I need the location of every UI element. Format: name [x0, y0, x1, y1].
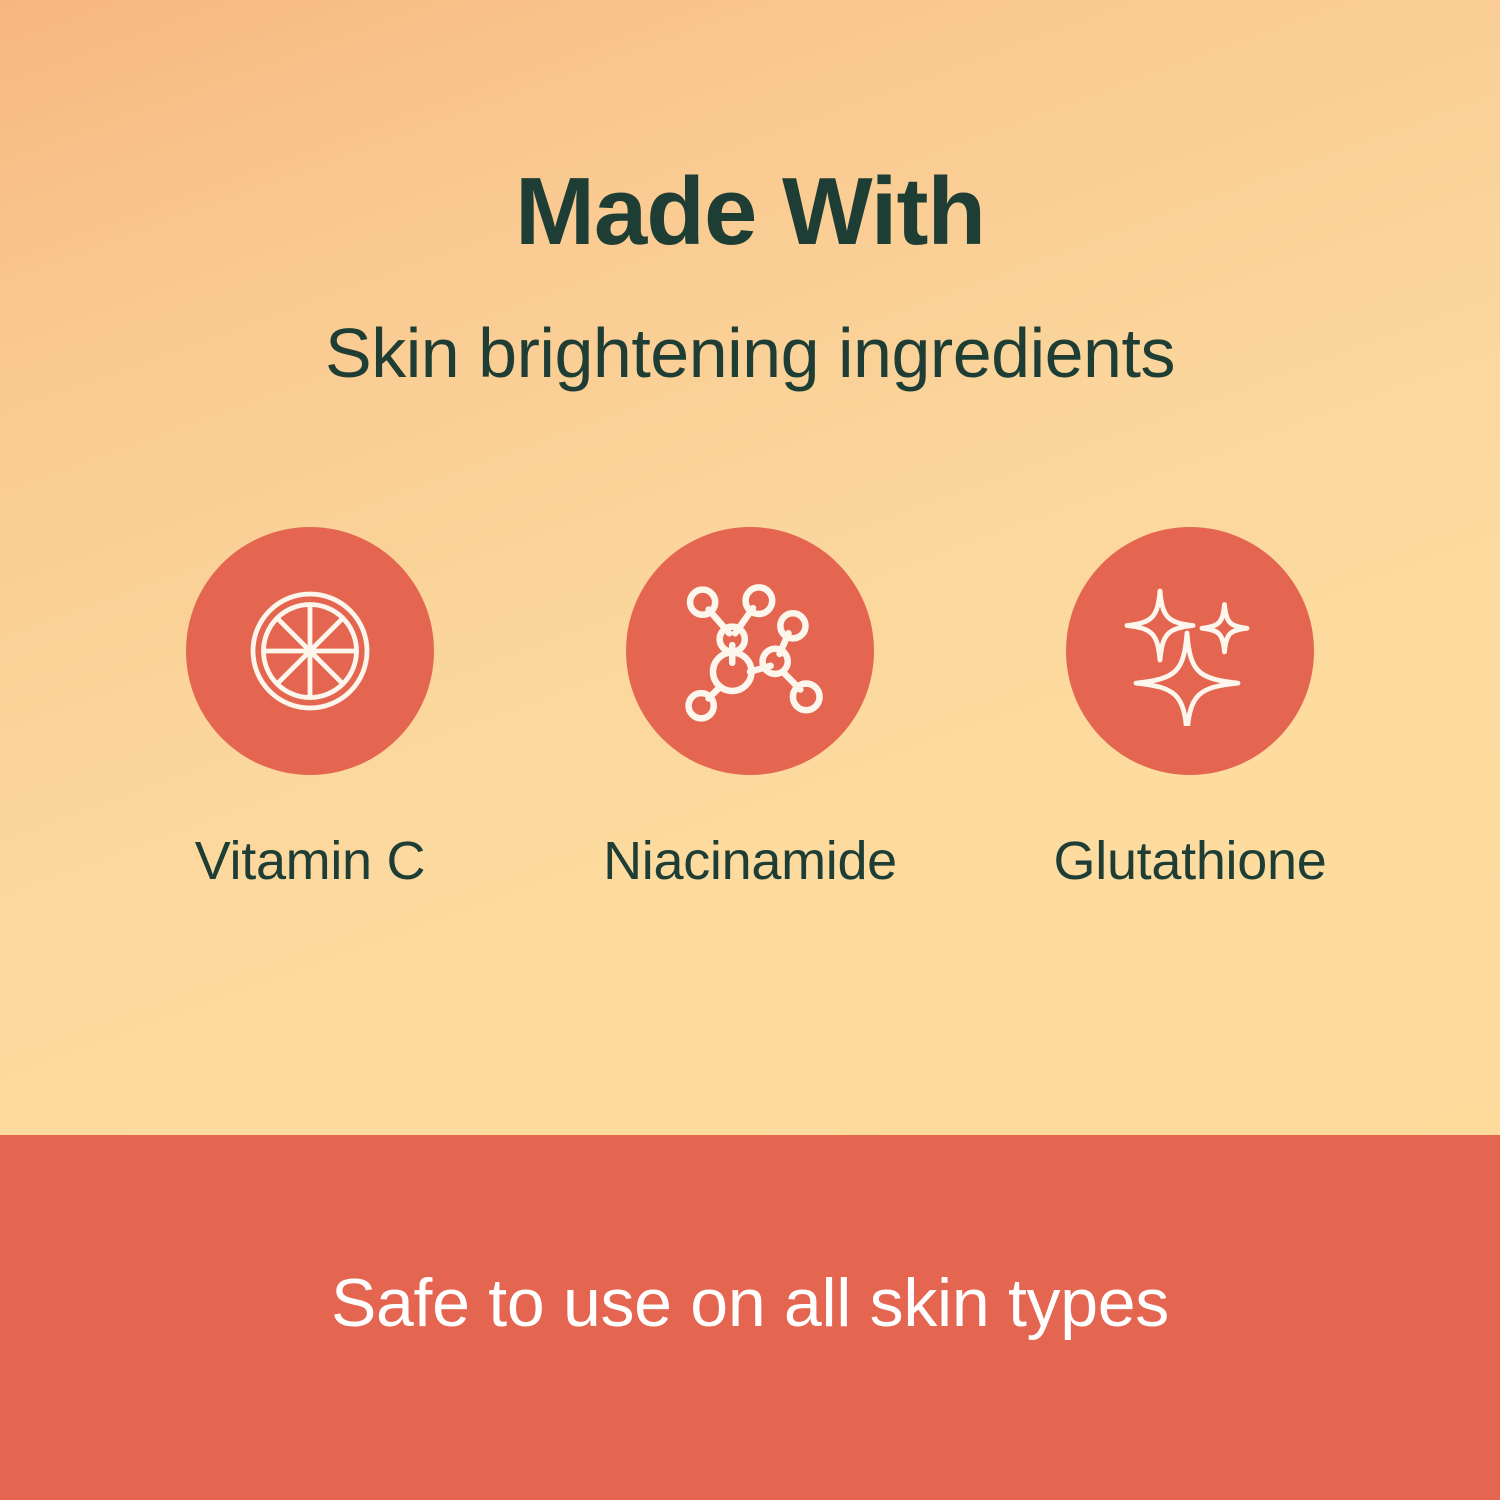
citrus-slice-icon	[235, 576, 385, 726]
ingredient-list: Vitamin C	[0, 527, 1500, 892]
ingredient-label: Vitamin C	[195, 830, 425, 892]
sparkles-icon	[1115, 576, 1265, 726]
banner-text: Safe to use on all skin types	[0, 1262, 1500, 1344]
ingredient-badge-glutathione	[1066, 527, 1314, 775]
ingredient-badge-niacinamide	[626, 527, 874, 775]
ingredient-item-niacinamide: Niacinamide	[530, 527, 970, 892]
ingredients-section: Made With Skin brightening ingredients	[0, 0, 1500, 1135]
ingredient-label: Niacinamide	[603, 830, 897, 892]
molecule-icon	[676, 577, 824, 725]
bottom-banner: Safe to use on all skin types	[0, 1135, 1500, 1500]
ingredient-badge-vitamin-c	[186, 527, 434, 775]
made-with-poster: Made With Skin brightening ingredients	[0, 0, 1500, 1500]
ingredient-label: Glutathione	[1054, 830, 1327, 892]
ingredient-item-vitamin-c: Vitamin C	[90, 527, 530, 892]
ingredient-item-glutathione: Glutathione	[970, 527, 1410, 892]
page-title: Made With	[0, 157, 1500, 267]
page-subtitle: Skin brightening ingredients	[0, 310, 1500, 396]
